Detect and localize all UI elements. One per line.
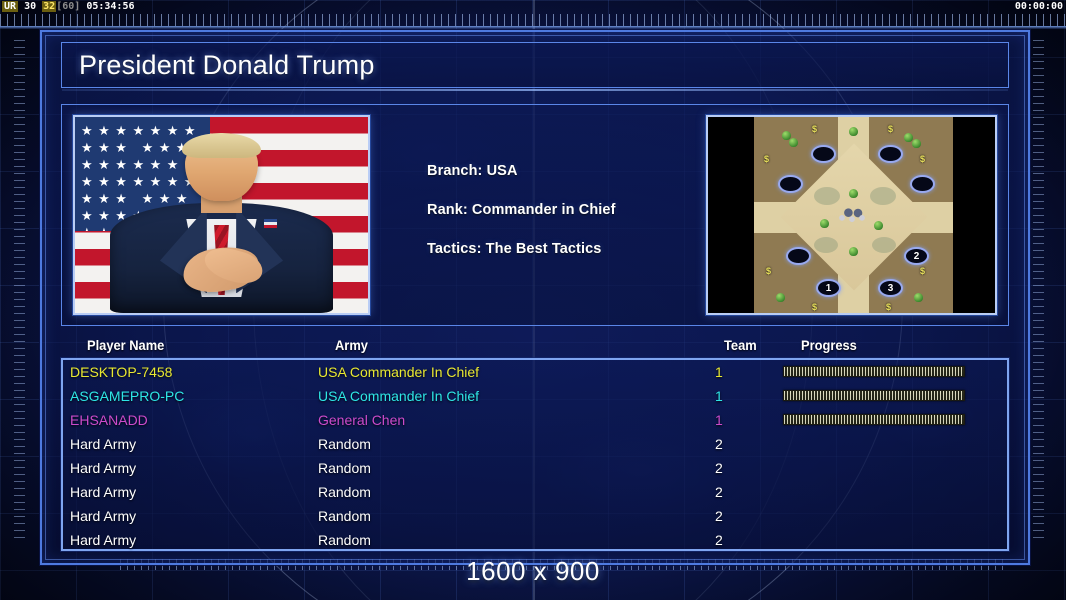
minimap-tree-icon — [820, 219, 829, 228]
minimap-resource-icon: $ — [920, 155, 925, 164]
table-row[interactable]: Hard ArmyRandom2 — [63, 504, 1007, 528]
cell-progress — [783, 414, 965, 425]
branch-line: Branch: USA — [427, 163, 616, 179]
minimap-tree-icon — [914, 293, 923, 302]
cell-player-name: Hard Army — [70, 460, 136, 476]
hud-clock: 05:34:56 — [86, 1, 134, 12]
hud-value-3: [60] — [56, 1, 80, 12]
cell-player-name: ASGAMEPRO-PC — [70, 388, 184, 404]
minimap-terrain-blob — [814, 237, 838, 253]
minimap-tree-icon — [776, 293, 785, 302]
cell-player-name: DESKTOP-7458 — [70, 364, 172, 380]
cell-team: 1 — [715, 388, 723, 404]
cell-army: USA Commander In Chief — [318, 388, 479, 404]
commander-portrait-image: ★★★★★★★★★★ ★★★★★★★★★ ★★★★★★★★★★ ★★★★★★★★… — [75, 117, 368, 313]
table-row[interactable]: Hard ArmyRandom2 — [63, 528, 1007, 552]
cell-progress — [783, 366, 965, 377]
tactics-line: Tactics: The Best Tactics — [427, 241, 616, 257]
cell-player-name: Hard Army — [70, 484, 136, 500]
cell-army: Random — [318, 532, 371, 548]
cell-team: 2 — [715, 460, 723, 476]
cell-team: 2 — [715, 436, 723, 452]
player-table: DESKTOP-7458USA Commander In Chief1ASGAM… — [61, 358, 1009, 551]
cell-team: 1 — [715, 412, 723, 428]
commander-info-band: ★★★★★★★★★★ ★★★★★★★★★ ★★★★★★★★★★ ★★★★★★★★… — [61, 104, 1009, 326]
minimap-resource-icon: $ — [766, 267, 771, 276]
minimap-terrain-blob — [870, 187, 896, 205]
cell-team: 1 — [715, 364, 723, 380]
header-player-name: Player Name — [87, 337, 164, 353]
table-row[interactable]: ASGAMEPRO-PCUSA Commander In Chief1 — [63, 384, 1007, 408]
cell-army: USA Commander In Chief — [318, 364, 479, 380]
cell-progress — [783, 390, 965, 401]
minimap-resource-icon: $ — [888, 125, 893, 134]
cell-player-name: EHSANADD — [70, 412, 148, 428]
cell-army: Random — [318, 460, 371, 476]
loading-screen-window: President Donald Trump ★★★★★★★★★★ ★★★★★★… — [40, 30, 1030, 565]
cell-army: Random — [318, 484, 371, 500]
hud-overlay: UR 30 32[60] 05:34:56 00:00:00 — [0, 0, 1066, 13]
hud-timer-right: 00:00:00 — [1015, 0, 1063, 13]
hud-value-2: 32 — [42, 1, 56, 12]
rank-line: Rank: Commander in Chief — [427, 202, 616, 218]
header-progress: Progress — [801, 337, 857, 353]
cell-team: 2 — [715, 508, 723, 524]
hud-stats-left: UR 30 32[60] 05:34:56 — [2, 0, 135, 13]
minimap-spawn-point — [778, 175, 803, 193]
header-team: Team — [724, 337, 757, 353]
cell-player-name: Hard Army — [70, 532, 136, 548]
progress-bar — [783, 414, 965, 425]
minimap-spawn-point — [786, 247, 811, 265]
minimap-tree-icon — [789, 138, 798, 147]
header-army: Army — [335, 337, 368, 353]
minimap-resource-icon: $ — [812, 303, 817, 312]
minimap-tree-icon — [849, 189, 858, 198]
hud-value-1: 30 — [24, 1, 36, 12]
resolution-label: 1600 x 900 — [0, 556, 1066, 587]
table-row[interactable]: DESKTOP-7458USA Commander In Chief1 — [63, 360, 1007, 384]
table-row[interactable]: Hard ArmyRandom2 — [63, 480, 1007, 504]
minimap-tree-icon — [849, 247, 858, 256]
minimap-tree-icon — [874, 221, 883, 230]
flag-lapel-pin-icon — [264, 219, 277, 228]
title-bar: President Donald Trump — [61, 42, 1009, 88]
minimap-spawn-point — [878, 145, 903, 163]
table-row[interactable]: EHSANADDGeneral Chen1 — [63, 408, 1007, 432]
minimap-frame: $ $ $ $ $ $ $ $ 213 — [706, 115, 997, 315]
minimap-spawn-point — [811, 145, 836, 163]
minimap-resource-icon: $ — [812, 125, 817, 134]
progress-bar — [783, 366, 965, 377]
minimap-spawn-point — [910, 175, 935, 193]
commander-portrait-frame: ★★★★★★★★★★ ★★★★★★★★★ ★★★★★★★★★★ ★★★★★★★★… — [73, 115, 370, 315]
cell-player-name: Hard Army — [70, 508, 136, 524]
minimap-spawn-point: 2 — [904, 247, 929, 265]
progress-bar — [783, 390, 965, 401]
hud-tag: UR — [2, 1, 18, 12]
cell-team: 2 — [715, 484, 723, 500]
minimap-terrain-blob — [872, 237, 896, 253]
player-table-headers: Player Name Army Team Progress — [61, 337, 1009, 359]
cell-team: 2 — [715, 532, 723, 548]
table-row[interactable]: Hard ArmyRandom2 — [63, 456, 1007, 480]
cell-army: Random — [318, 508, 371, 524]
cell-player-name: Hard Army — [70, 436, 136, 452]
minimap-terrain-blob — [814, 187, 840, 205]
cell-army: Random — [318, 436, 371, 452]
minimap-spawn-point: 3 — [878, 279, 903, 297]
minimap-spawn-point: 1 — [816, 279, 841, 297]
commander-info-text: Branch: USA Rank: Commander in Chief Tac… — [427, 163, 616, 280]
minimap-tree-icon — [849, 127, 858, 136]
table-row[interactable]: Hard ArmyRandom2 — [63, 432, 1007, 456]
minimap-center-units — [834, 208, 874, 226]
minimap-tree-icon — [912, 139, 921, 148]
minimap-resource-icon: $ — [764, 155, 769, 164]
minimap-resource-icon: $ — [920, 267, 925, 276]
page-title: President Donald Trump — [62, 50, 375, 81]
cell-army: General Chen — [318, 412, 405, 428]
minimap-resource-icon: $ — [886, 303, 891, 312]
minimap-image: $ $ $ $ $ $ $ $ 213 — [754, 117, 953, 315]
